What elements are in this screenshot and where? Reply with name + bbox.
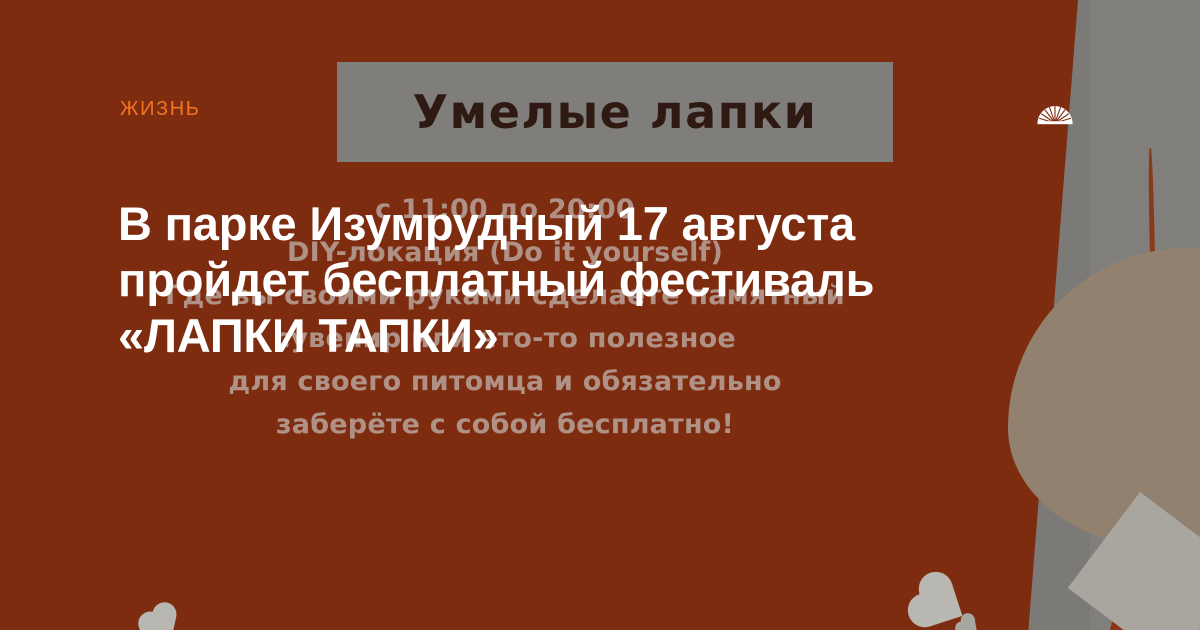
page-title[interactable]: В парке Изумрудный 17 августа пройдет бе… [118,196,978,364]
headline-line: «ЛАПКИ ТАПКИ» [118,308,978,364]
open-book-sunburst-icon[interactable] [1036,99,1074,125]
category-label[interactable]: Жизнь [120,98,201,121]
article-preview-card: Умелые лапки с 11:00 до 20:00 DIY-локаци… [0,0,1200,630]
card-content: Жизнь В парке Изумрудный 17 августа прой… [0,0,1200,630]
headline-line: пройдет бесплатный фестиваль [118,252,978,308]
headline-line: В парке Изумрудный 17 августа [118,196,978,252]
